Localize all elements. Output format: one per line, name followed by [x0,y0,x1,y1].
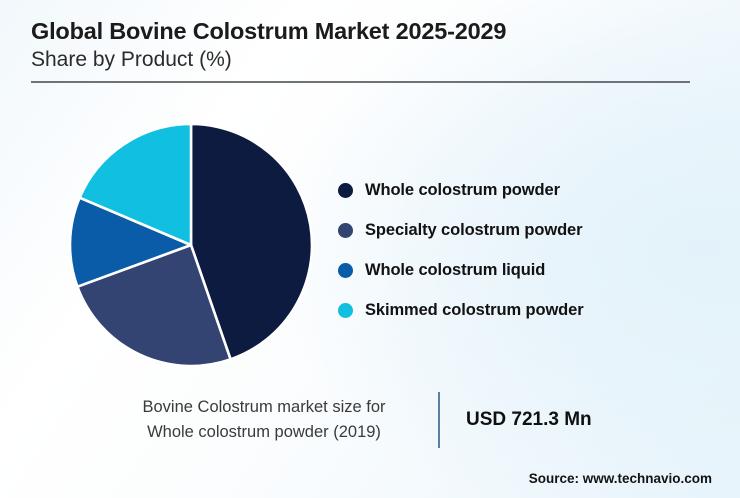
legend-dot-icon [338,223,353,238]
legend-item-label: Whole colostrum liquid [365,261,545,280]
page-title: Global Bovine Colostrum Market 2025-2029 [31,18,691,46]
pie-chart [70,124,312,366]
market-size-callout: Bovine Colostrum market size for Whole c… [108,392,648,448]
chart-header: Global Bovine Colostrum Market 2025-2029… [31,18,691,83]
callout-description-line1: Bovine Colostrum market size for [108,395,420,420]
infographic-canvas: Global Bovine Colostrum Market 2025-2029… [0,0,740,498]
legend-item[interactable]: Specialty colostrum powder [338,210,718,250]
callout-description: Bovine Colostrum market size for Whole c… [108,395,438,445]
legend-dot-icon [338,263,353,278]
chart-legend: Whole colostrum powderSpecialty colostru… [338,170,718,330]
pie-chart-svg [70,124,312,366]
legend-dot-icon [338,303,353,318]
legend-item[interactable]: Whole colostrum liquid [338,250,718,290]
callout-description-line2: Whole colostrum powder (2019) [108,420,420,445]
legend-dot-icon [338,183,353,198]
legend-item-label: Skimmed colostrum powder [365,301,584,320]
legend-item-label: Specialty colostrum powder [365,221,582,240]
source-label: Source: www.technavio.com [529,471,712,486]
header-divider [31,81,690,83]
legend-item-label: Whole colostrum powder [365,181,560,200]
legend-item[interactable]: Skimmed colostrum powder [338,290,718,330]
page-subtitle: Share by Product (%) [31,47,691,72]
callout-value: USD 721.3 Mn [440,409,648,431]
legend-item[interactable]: Whole colostrum powder [338,170,718,210]
